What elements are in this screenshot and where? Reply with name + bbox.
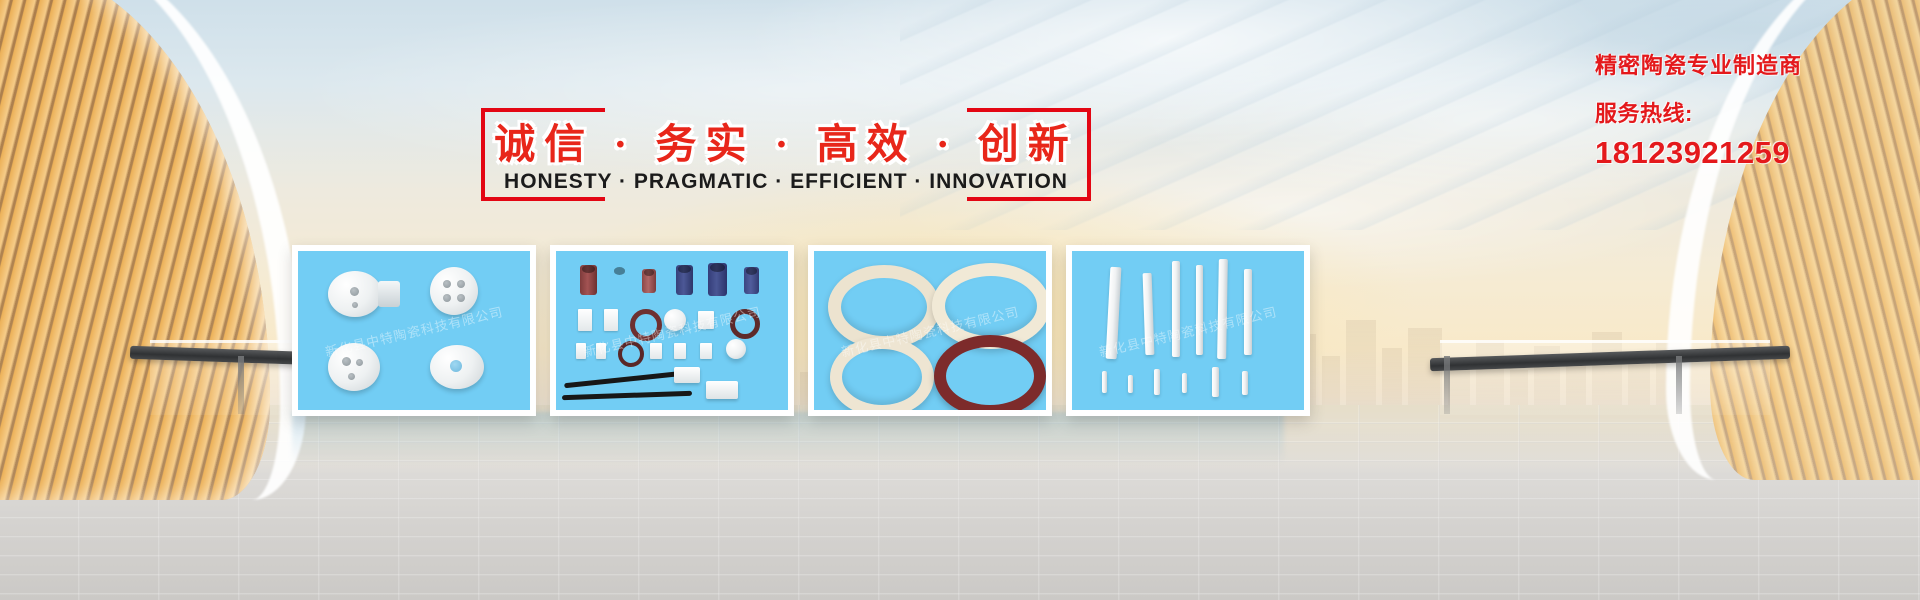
- ceramic-ring: [830, 337, 934, 416]
- ceramic-tube-red: [642, 269, 656, 293]
- seal-ring-dark-red: [934, 335, 1046, 416]
- ceramic-tube-red: [612, 267, 627, 294]
- product-panel-4[interactable]: 新化县中特陶瓷科技有限公司: [1066, 245, 1310, 416]
- slogan-block: 诚信 · 务实 · 高效 · 创新 HONESTY · PRAGMATIC · …: [481, 108, 1091, 193]
- wire-connector: [674, 367, 700, 383]
- ceramic-tube-red: [580, 265, 597, 295]
- railing-post: [1676, 356, 1682, 414]
- panel-4-stage: [1072, 251, 1304, 410]
- company-tagline: 精密陶瓷专业制造商: [1595, 48, 1802, 80]
- product-panel-3[interactable]: 新化县中特陶瓷科技有限公司: [808, 245, 1052, 416]
- slogan-english: HONESTY · PRAGMATIC · EFFICIENT · INNOVA…: [481, 170, 1091, 194]
- ceramic-pin: [1154, 369, 1160, 395]
- product-panel-strip: 新化县中特陶瓷科技有限公司: [292, 245, 1310, 416]
- ceramic-tube-blue: [708, 263, 727, 296]
- black-wire: [562, 391, 692, 401]
- ceramic-insulator-body: [328, 271, 382, 317]
- ceramic-rod: [1217, 259, 1228, 359]
- hotline-number[interactable]: 18123921259: [1595, 135, 1802, 171]
- wire-connector: [706, 381, 738, 399]
- canopy-left-edge: [0, 0, 306, 500]
- hero-banner: 诚信 · 务实 · 高效 · 创新 HONESTY · PRAGMATIC · …: [0, 0, 1920, 600]
- ceramic-rod: [1172, 261, 1180, 357]
- seal-ring-red: [730, 309, 760, 339]
- ceramic-pin: [1182, 373, 1187, 393]
- black-wire: [564, 371, 684, 389]
- product-panel-2[interactable]: 新化县中特陶瓷科技有限公司: [550, 245, 794, 416]
- panel-2-stage: [556, 251, 788, 410]
- railing-post: [1444, 356, 1450, 414]
- contact-block: 精密陶瓷专业制造商 服务热线: 18123921259: [1595, 48, 1802, 171]
- ceramic-insulator-body: [430, 267, 478, 315]
- ceramic-insulator-body: [328, 343, 380, 391]
- panel-3-stage: [814, 251, 1046, 410]
- ceramic-rod: [1244, 269, 1252, 355]
- panel-1-stage: [298, 251, 530, 410]
- ceramic-pin: [1212, 367, 1219, 397]
- product-panel-1[interactable]: 新化县中特陶瓷科技有限公司: [292, 245, 536, 416]
- ceramic-rod: [1143, 273, 1155, 355]
- ceramic-insulator-body: [430, 345, 484, 389]
- slogan-chinese: 诚信 · 务实 · 高效 · 创新: [481, 110, 1091, 170]
- ceramic-pin: [1102, 371, 1107, 393]
- ceramic-pin: [1242, 371, 1248, 395]
- ceramic-rod: [1196, 265, 1203, 355]
- ceramic-tube-blue: [676, 265, 693, 295]
- railing-post: [238, 356, 244, 414]
- ceramic-pin: [1128, 375, 1133, 393]
- ceramic-tube-blue: [744, 267, 759, 294]
- ceramic-rod: [1106, 267, 1122, 359]
- hotline-label: 服务热线:: [1595, 96, 1802, 128]
- seal-ring-red: [630, 309, 662, 341]
